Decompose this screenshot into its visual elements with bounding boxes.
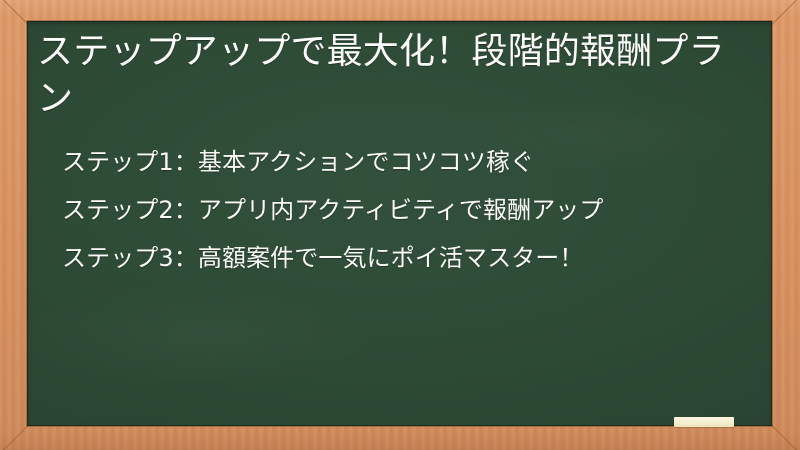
chalkboard-slide: ステップアップで最大化！段階的報酬プラン ステップ1：基本アクションでコツコツ稼… [0, 0, 800, 450]
slide-title: ステップアップで最大化！段階的報酬プラン [37, 29, 754, 123]
list-item-step-2: ステップ2：アプリ内アクティビティで報酬アップ [62, 193, 754, 227]
chalk-stick-icon [674, 417, 734, 427]
list-item-step-3: ステップ3：高額案件で一気にポイ活マスター！ [62, 241, 754, 275]
step-list: ステップ1：基本アクションでコツコツ稼ぐ ステップ2：アプリ内アクティビティで報… [37, 145, 754, 275]
chalkboard-surface: ステップアップで最大化！段階的報酬プラン ステップ1：基本アクションでコツコツ稼… [27, 21, 772, 426]
list-item-step-1: ステップ1：基本アクションでコツコツ稼ぐ [62, 145, 754, 179]
board-content: ステップアップで最大化！段階的報酬プラン ステップ1：基本アクションでコツコツ稼… [27, 21, 772, 275]
